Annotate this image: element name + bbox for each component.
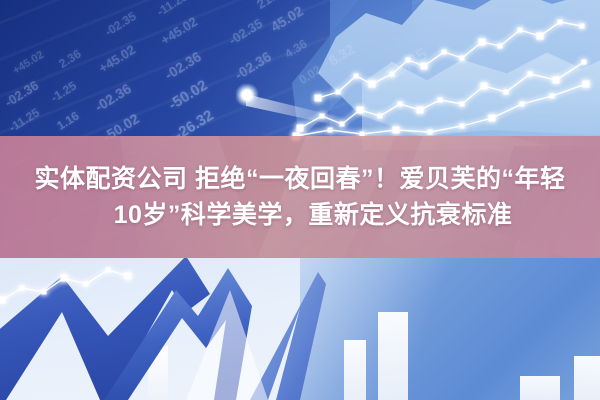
trend-node xyxy=(61,275,68,282)
trend-node xyxy=(442,50,447,55)
trend-node xyxy=(481,83,488,90)
trend-node xyxy=(498,44,503,49)
trend-node xyxy=(537,33,544,40)
trend-node xyxy=(504,90,509,95)
trend-node xyxy=(378,114,383,119)
banner-image: -02.36-11.25+45.021.16-1.252.36-50.02-02… xyxy=(0,0,600,400)
headline-line-1: 实体配资公司 拒绝“一夜回春”！爱贝芙的“年轻 xyxy=(35,163,566,195)
trend-node xyxy=(489,115,496,122)
trend-node xyxy=(84,282,89,287)
trend-node xyxy=(421,63,428,70)
trend-node xyxy=(125,273,132,280)
trend-line xyxy=(300,62,584,128)
headline-block: 实体配资公司 拒绝“一夜回春”！爱贝芙的“年轻 10岁”科学美学，重新定义抗衰标… xyxy=(0,136,600,258)
trend-node xyxy=(0,297,6,304)
trend-node xyxy=(438,98,443,103)
trend-node xyxy=(558,20,563,25)
headline-line-2: 10岁”科学美学，重新定义抗衰标准 xyxy=(114,199,513,231)
trend-node xyxy=(328,128,333,133)
trend-node xyxy=(340,122,345,127)
trend-node xyxy=(479,39,486,46)
trend-node xyxy=(315,95,322,102)
trend-node xyxy=(336,90,341,95)
trend-node xyxy=(460,56,465,61)
trend-node xyxy=(42,290,47,295)
trend-node xyxy=(320,114,325,119)
trend-node xyxy=(428,130,433,135)
trend-node xyxy=(297,125,304,132)
trend-node xyxy=(528,72,533,77)
trend-node xyxy=(553,77,560,84)
trend-node xyxy=(369,81,376,88)
trend-node xyxy=(354,74,359,79)
trend-node xyxy=(460,102,465,107)
trend-node xyxy=(357,107,364,114)
trend-node xyxy=(583,81,590,88)
trend-node xyxy=(582,60,587,65)
trend-node xyxy=(398,102,403,107)
trend-node xyxy=(417,107,424,114)
trend-node xyxy=(390,72,395,77)
trend-node xyxy=(393,127,400,134)
trend-node xyxy=(518,28,523,33)
trend-node xyxy=(580,24,585,29)
trend-node xyxy=(520,102,525,107)
trend-node xyxy=(460,124,465,129)
trend-node xyxy=(106,268,111,273)
trend-node xyxy=(406,58,411,63)
trend-node xyxy=(550,94,555,99)
trend-node xyxy=(20,286,25,291)
